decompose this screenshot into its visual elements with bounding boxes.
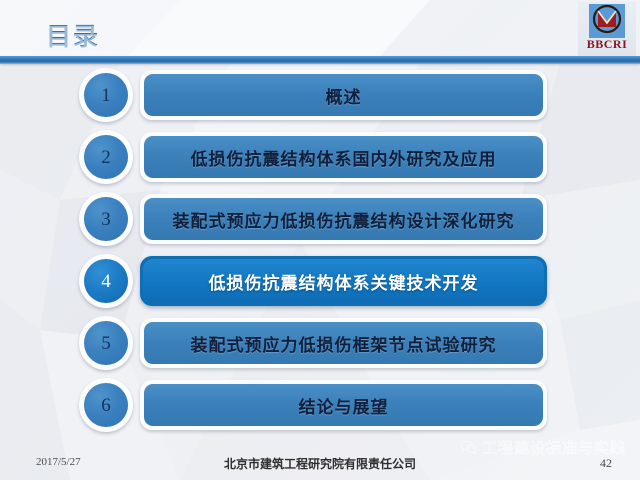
agenda-number-badge: 4 [79,254,133,308]
agenda-number: 2 [84,135,128,179]
agenda-bar-fill: 结论与展望 [144,384,543,426]
agenda-list: 1 概述 2 低损伤抗震结构体系国内外研究及应用 3 [0,64,640,436]
agenda-item-5[interactable]: 5 装配式预应力低损伤框架节点试验研究 [0,312,640,374]
agenda-number-badge: 5 [79,316,133,370]
agenda-number: 6 [84,383,128,427]
agenda-bar-fill: 装配式预应力低损伤抗震结构设计深化研究 [144,198,543,240]
agenda-bar-fill: 概述 [144,74,543,116]
agenda-item-1[interactable]: 1 概述 [0,64,640,126]
agenda-bar[interactable]: 装配式预应力低损伤框架节点试验研究 [140,318,547,368]
header-divider [0,56,640,64]
agenda-item-label: 结论与展望 [299,393,389,418]
agenda-item-label: 装配式预应力低损伤框架节点试验研究 [191,331,497,356]
agenda-item-label: 低损伤抗震结构体系国内外研究及应用 [191,145,497,170]
agenda-number: 3 [84,197,128,241]
agenda-item-3[interactable]: 3 装配式预应力低损伤抗震结构设计深化研究 [0,188,640,250]
bbcri-logo: BBCRI [578,2,636,56]
agenda-number: 5 [84,321,128,365]
agenda-number-badge: 6 [79,378,133,432]
page-title: 目录 [46,17,100,53]
agenda-number-badge: 3 [79,192,133,246]
slide-header: 目录 BBCRI [0,0,640,64]
agenda-number-badge: 2 [79,130,133,184]
agenda-bar[interactable]: 结论与展望 [140,380,547,430]
agenda-item-2[interactable]: 2 低损伤抗震结构体系国内外研究及应用 [0,126,640,188]
logo-text: BBCRI [587,38,628,51]
agenda-bar[interactable]: 装配式预应力低损伤抗震结构设计深化研究 [140,194,547,244]
agenda-bar[interactable]: 概述 [140,70,547,120]
agenda-bar-fill: 低损伤抗震结构体系国内外研究及应用 [144,136,543,178]
footer-page-number: 42 [600,456,612,471]
agenda-item-label: 装配式预应力低损伤抗震结构设计深化研究 [173,207,515,232]
presentation-slide: 目录 BBCRI 1 概述 [0,0,640,480]
agenda-item-4[interactable]: 4 低损伤抗震结构体系关键技术开发 [0,250,640,312]
agenda-item-6[interactable]: 6 结论与展望 [0,374,640,436]
agenda-number: 4 [84,259,128,303]
slide-footer: 2017/5/27 北京市建筑工程研究院有限责任公司 42 [0,448,640,480]
bbcri-emblem-icon [589,4,625,38]
agenda-bar[interactable]: 低损伤抗震结构体系国内外研究及应用 [140,132,547,182]
agenda-bar-active[interactable]: 低损伤抗震结构体系关键技术开发 [140,256,547,306]
footer-organization: 北京市建筑工程研究院有限责任公司 [0,455,640,472]
agenda-number: 1 [84,73,128,117]
agenda-bar-fill: 低损伤抗震结构体系关键技术开发 [143,259,544,303]
agenda-number-badge: 1 [79,68,133,122]
agenda-bar-fill: 装配式预应力低损伤框架节点试验研究 [144,322,543,364]
agenda-item-label: 低损伤抗震结构体系关键技术开发 [209,269,479,294]
agenda-item-label: 概述 [326,83,362,108]
